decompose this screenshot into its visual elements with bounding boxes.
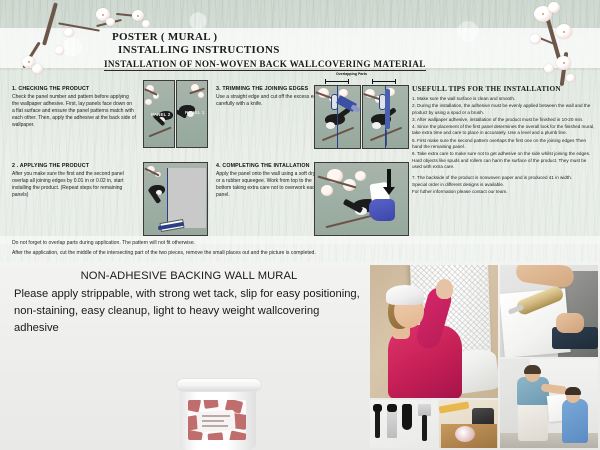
woman-hand (436, 279, 453, 299)
useful-tips-section: USEFULL TIPS FOR THE INSTALLATION 1. Mak… (412, 84, 596, 196)
man-hair (524, 365, 541, 374)
bird-illustration (321, 110, 351, 142)
step-4-body: Apply the panel onto the wall using a so… (216, 171, 328, 199)
photo-paste-and-tools (439, 400, 498, 448)
brush-head-icon (373, 404, 382, 412)
adhesive-bucket-image (176, 378, 260, 450)
page-title-line1: POSTER ( MURAL ) (112, 31, 217, 43)
step-3-image-left (314, 85, 361, 149)
photo-man-and-child (500, 359, 598, 448)
scraper-handle-icon (422, 415, 427, 441)
promo-body: Please apply strippable, with strong wet… (14, 286, 364, 337)
tips-list: 1. Make sure the wall surface is clean a… (412, 96, 596, 196)
tip-item: 2. During the installation, the adhesive… (412, 103, 596, 116)
straight-edge-ruler (385, 89, 390, 129)
bucket-label (188, 400, 246, 440)
tip-item: 1. Make sure the wall surface is clean a… (412, 96, 596, 103)
wallpaper-roll-small (455, 426, 475, 442)
step-4-heading: 4. COMPLETING THE INTALLATION (216, 163, 328, 169)
worker-hand (556, 313, 584, 333)
poster-sheet: POSTER ( MURAL ) INSTALLING INSTRUCTIONS… (0, 0, 600, 450)
step-2-heading: 2 . APPLYING THE PRODUCT (12, 163, 136, 169)
promo-copy: NON-ADHESIVE BACKING WALL MURAL Please a… (14, 270, 364, 337)
photo-woman-hanging-wallpaper (370, 265, 498, 398)
tip-item: 6. Take extra care to make sure not to g… (412, 151, 596, 171)
tips-heading: USEFULL TIPS FOR THE INSTALLATION (412, 84, 596, 93)
cut-line (386, 130, 387, 146)
page-subtitle: INSTALLATION OF NON-WOVEN BACK WALLCOVER… (104, 59, 426, 71)
step-3-image-right (362, 85, 409, 149)
direction-arrow (387, 169, 391, 189)
overlapping-panel (167, 168, 206, 228)
tip-closing-line: For futher information please contact ou… (412, 189, 596, 196)
child-hair (565, 387, 581, 395)
bucket-lid (176, 378, 262, 392)
instruction-sheet: POSTER ( MURAL ) INSTALLING INSTRUCTIONS… (0, 0, 600, 262)
step-2: 2 . APPLYING THE PRODUCT After you make … (12, 163, 136, 199)
smoother-grip-icon (387, 404, 397, 412)
step-4-image (314, 162, 409, 236)
tip-item: 3. After wallpaper adhesive, installatio… (412, 117, 596, 124)
step-2-body: After you make sure the first and the se… (12, 171, 136, 199)
photo-tool-set (370, 400, 438, 448)
panel-label-2: PANEL 2 (151, 112, 171, 117)
brush-handle-icon (375, 408, 380, 438)
panel-label-1: PANEL 1 (185, 110, 205, 115)
man-pants (518, 401, 548, 441)
tip-item: 5. First make sure the second pattern ov… (412, 138, 596, 151)
measuring-strip (439, 401, 469, 413)
footnote-line-2: After the application, cut the middle of… (12, 250, 482, 257)
mural-artwork (315, 163, 408, 235)
worker-arm (515, 265, 575, 289)
tip-closing-line: 7. The backside of the product is nonwov… (412, 175, 596, 182)
squeegee-icon (402, 404, 412, 430)
photo-collage (370, 265, 598, 448)
promo-title: NON-ADHESIVE BACKING WALL MURAL (14, 270, 364, 282)
step-1-panel-2-image: PANEL 2 (143, 80, 175, 148)
bird-illustration (367, 110, 397, 142)
step-3-body: Use a straight edge and cut off the exce… (216, 94, 326, 108)
step-3-heading: 3. TRIMMING THE JOINING EDGES (216, 86, 326, 92)
step-4: 4. COMPLETING THE INTALLATION Apply the … (216, 163, 328, 199)
overlapping-parts-label: Overlapping Parts (336, 72, 367, 76)
step-2-image (143, 162, 208, 236)
step-1-heading: 1. CHECKING THE PRODUCT (12, 86, 136, 92)
footnote-section: Do not forget to overlap parts during ap… (12, 240, 482, 259)
step-3: 3. TRIMMING THE JOINING EDGES Use a stra… (216, 86, 326, 108)
woman-cap (386, 285, 424, 305)
measure-arrow-left (325, 81, 349, 82)
tip-item: 4. Since the placement of the first pane… (412, 124, 596, 137)
bird-illustration (154, 107, 174, 133)
smoothing-blade-icon (387, 410, 397, 438)
page-title-line2: INSTALLING INSTRUCTIONS (118, 44, 280, 56)
child-body (562, 399, 588, 443)
photo-hands-with-roller (500, 265, 598, 357)
step-1-body: Check the panel number and pattern befor… (12, 94, 136, 129)
tip-closing-line: Special order in different designs is av… (412, 182, 596, 189)
bird-illustration (176, 103, 197, 127)
gloved-hand (369, 199, 395, 221)
step-1-panel-1-image: PANEL 1 (176, 80, 208, 148)
direction-arrow-head (383, 187, 395, 195)
step-1: 1. CHECKING THE PRODUCT Check the panel … (12, 86, 136, 129)
footnote-line-1: Do not forget to overlap parts during ap… (12, 240, 482, 247)
measure-arrow-right (372, 81, 396, 82)
